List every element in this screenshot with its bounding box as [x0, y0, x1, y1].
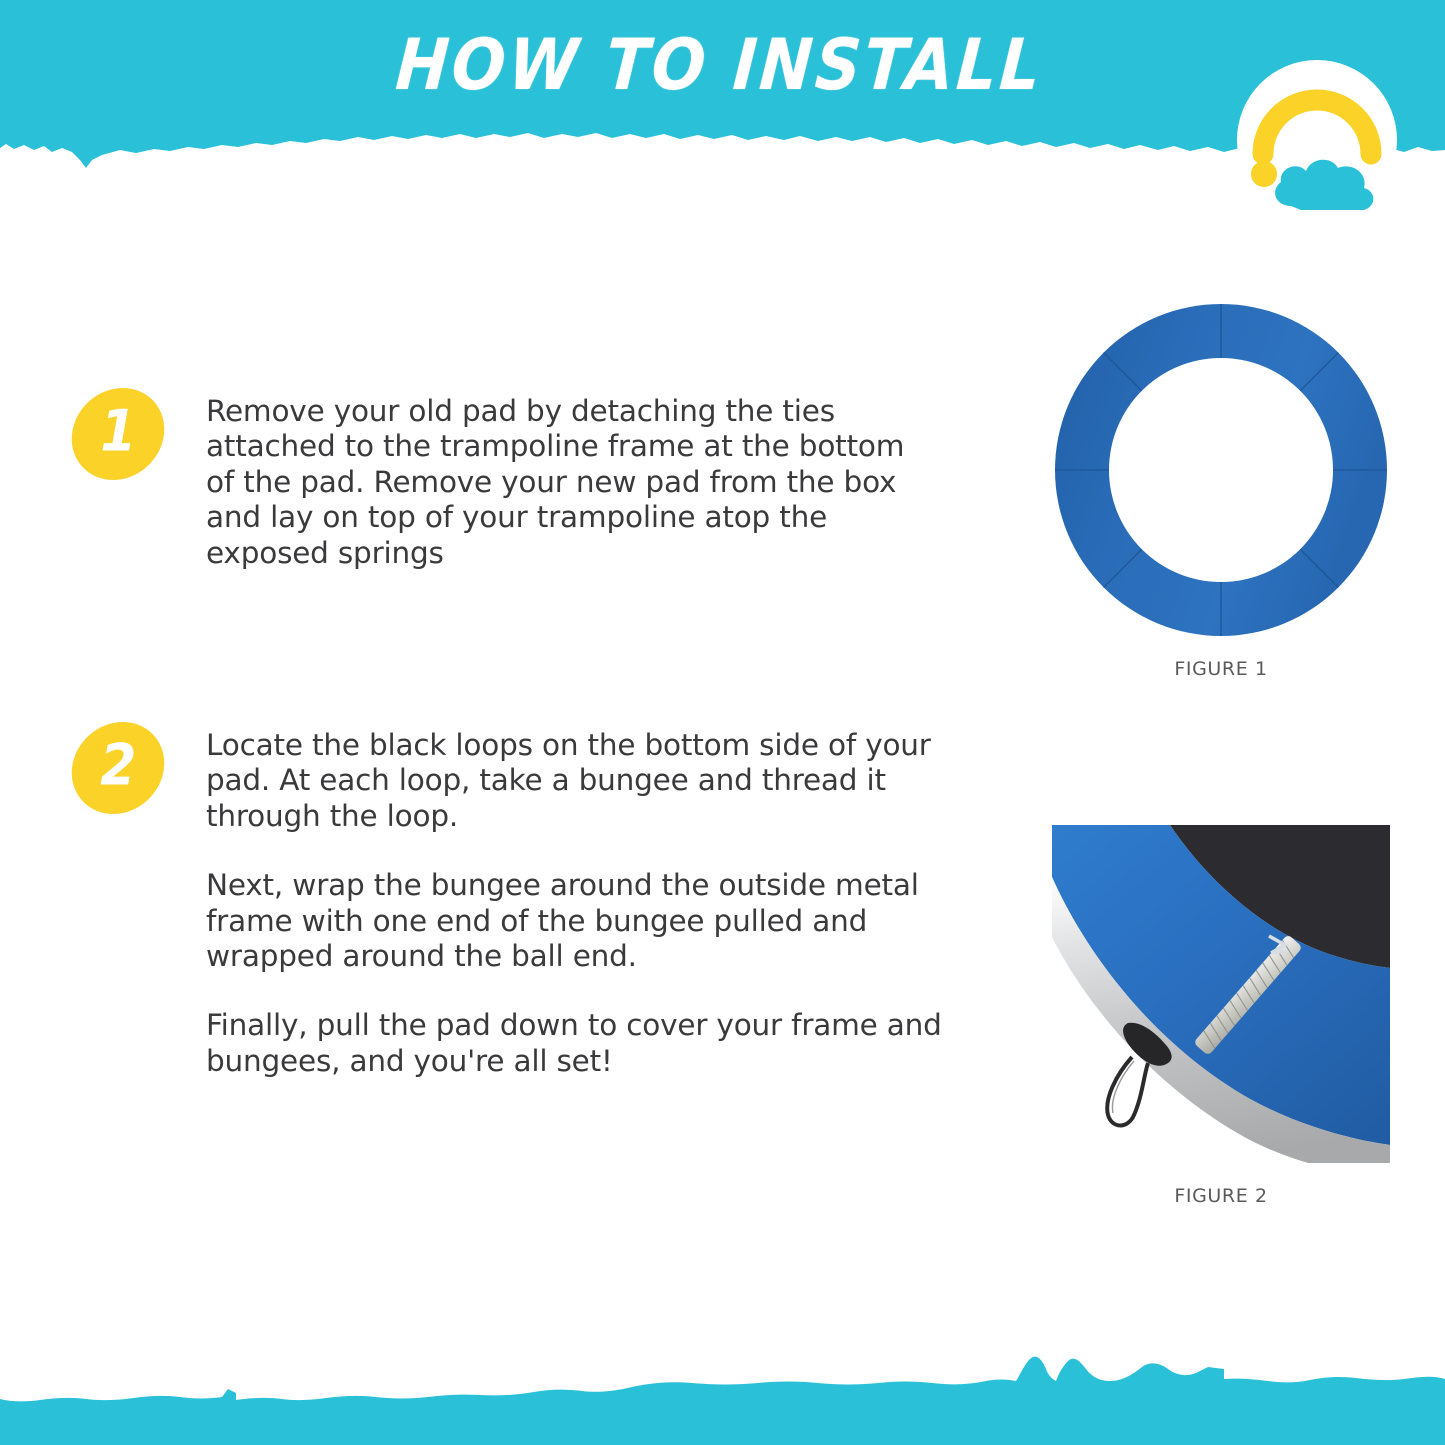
step-1-text-body: Remove your old pad by detaching the tie… [206, 388, 932, 571]
install-instructions-page: HOW TO INSTALL 1 Remove your old pad by … [0, 0, 1445, 1445]
step-2-text-body: Locate the black loops on the bottom sid… [206, 722, 952, 1079]
figure-2-caption: FIGURE 2 [1052, 1185, 1390, 1207]
figure-1: FIGURE 1 [1052, 300, 1390, 680]
bottom-banner-shape [0, 1357, 1445, 1445]
page-title: HOW TO INSTALL [0, 24, 1445, 106]
step-2-number-badge: 2 [67, 722, 169, 814]
bottom-banner [0, 1335, 1445, 1445]
step-2-number: 2 [100, 737, 136, 794]
step-1-number-badge: 1 [67, 388, 169, 480]
trampoline-pad-ring-illustration [1052, 300, 1390, 640]
sun-dot-icon [1251, 161, 1277, 187]
step-2-paragraph-3: Finally, pull the pad down to cover your… [206, 1008, 952, 1079]
step-1: 1 Remove your old pad by detaching the t… [72, 388, 932, 571]
pad-inner-hole [1109, 358, 1333, 582]
sun-cloud-logo [1235, 58, 1400, 223]
step-1-paragraph-1: Remove your old pad by detaching the tie… [206, 394, 932, 571]
step-1-number: 1 [100, 403, 136, 460]
trampoline-bungee-loop-photo [1052, 825, 1390, 1163]
step-2-paragraph-1: Locate the black loops on the bottom sid… [206, 728, 952, 834]
figure-1-caption: FIGURE 1 [1052, 658, 1390, 680]
step-2: 2 Locate the black loops on the bottom s… [72, 722, 952, 1079]
step-2-paragraph-2: Next, wrap the bungee around the outside… [206, 868, 952, 974]
figure-2: FIGURE 2 [1052, 825, 1390, 1207]
